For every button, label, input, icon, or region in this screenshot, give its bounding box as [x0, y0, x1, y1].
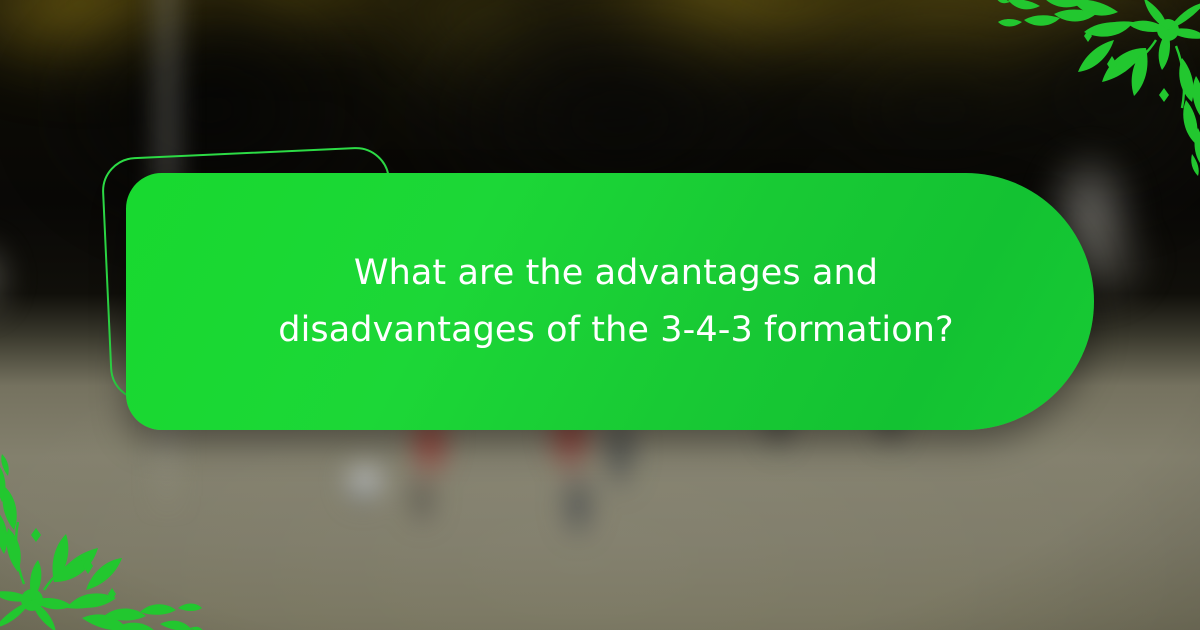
floral-ornament-bottom-left-icon — [0, 454, 204, 630]
floral-ornament-top-right-icon — [996, 0, 1200, 176]
question-text: What are the advantages and disadvantage… — [222, 245, 1010, 358]
share-card-canvas: What are the advantages and disadvantage… — [0, 0, 1200, 630]
question-card: What are the advantages and disadvantage… — [126, 173, 1094, 430]
